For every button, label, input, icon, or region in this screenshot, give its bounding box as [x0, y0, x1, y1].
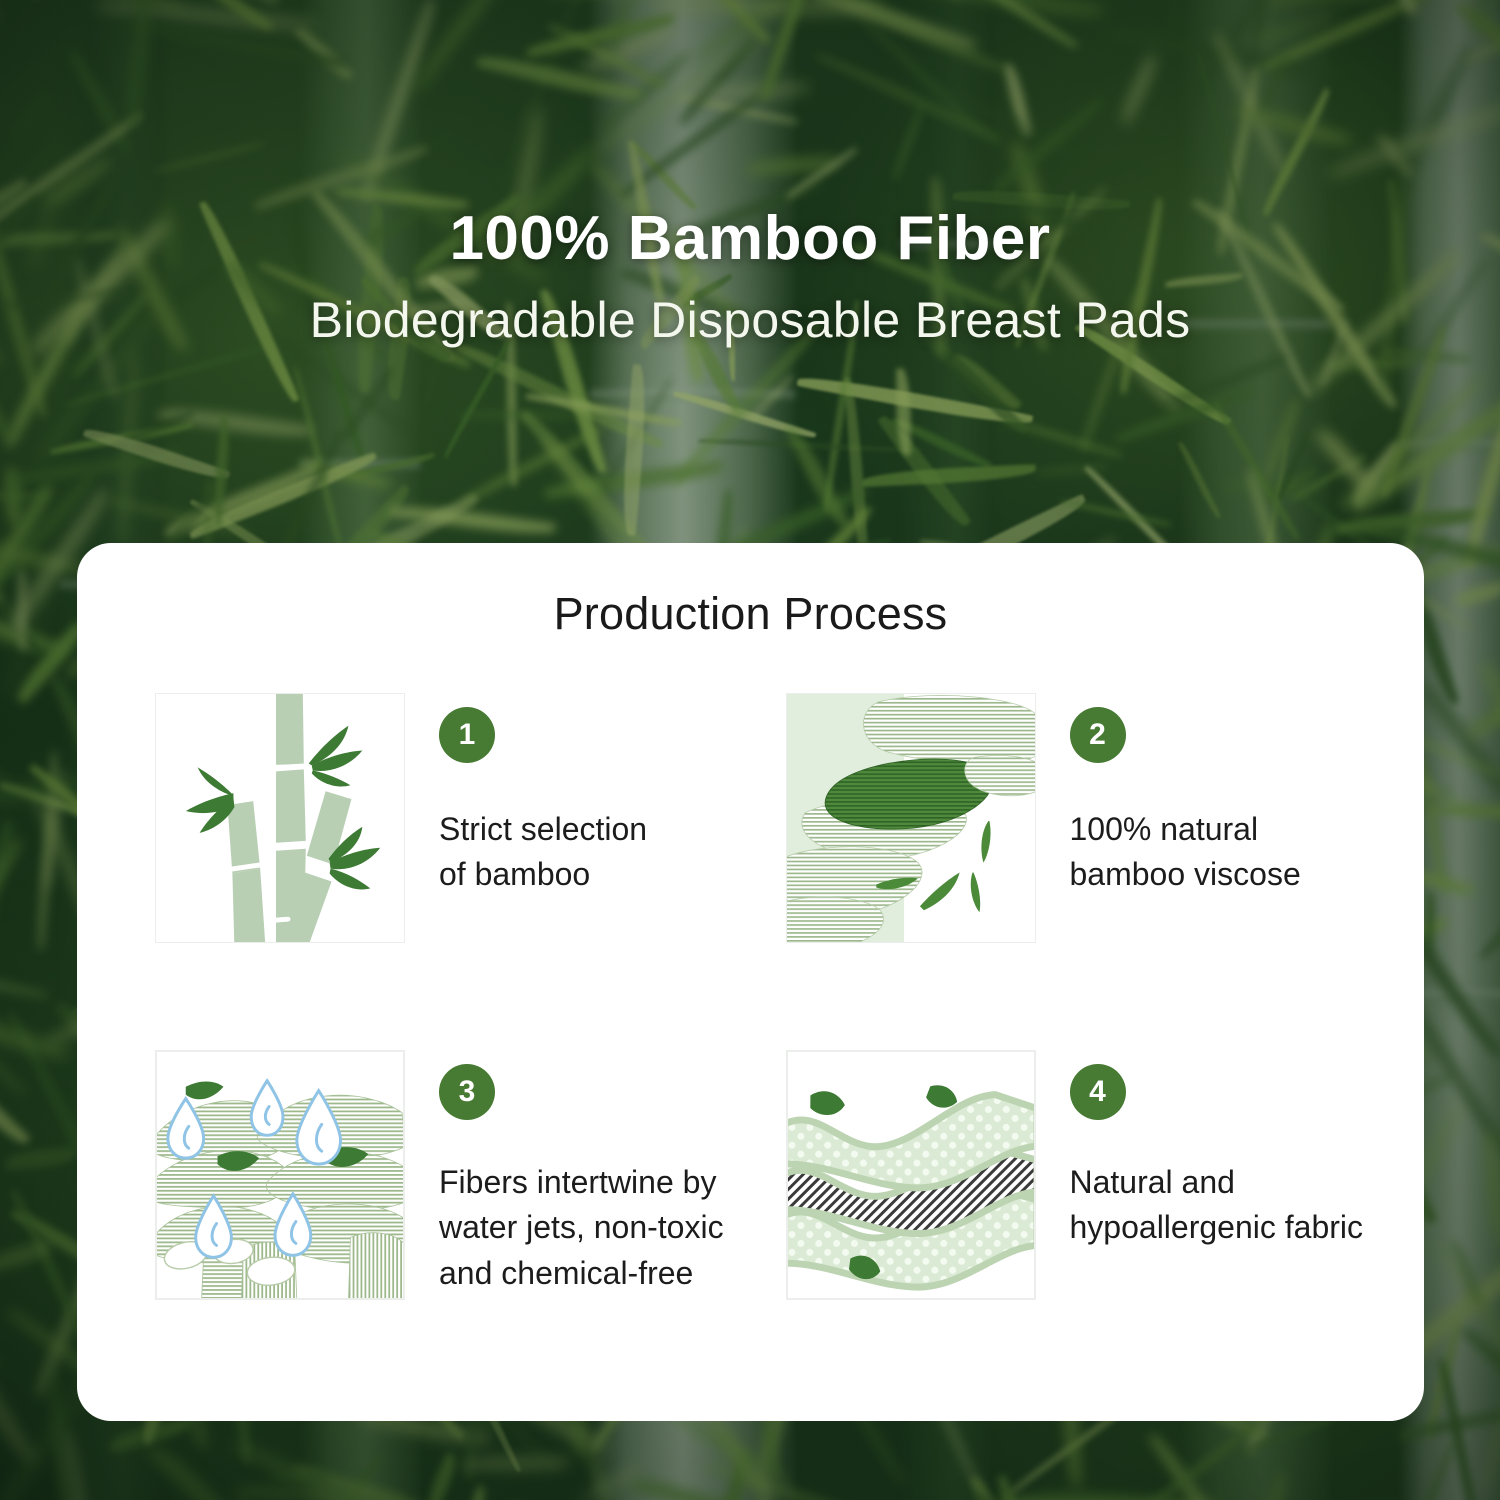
card-title: Production Process	[77, 588, 1424, 640]
process-step-1: 1 Strict selection of bamboo	[155, 693, 748, 1006]
step-2-number-badge: 2	[1070, 707, 1126, 763]
process-step-3: 3 Fibers intertwine by water jets, non-t…	[155, 1050, 748, 1363]
step-1-number-badge: 1	[439, 707, 495, 763]
production-process-card: Production Process	[77, 543, 1424, 1421]
infographic-page: 100% Bamboo Fiber Biodegradable Disposab…	[0, 0, 1500, 1500]
layered-fabric-icon	[786, 1050, 1036, 1300]
step-2-text: 100% natural bamboo viscose	[1070, 807, 1379, 898]
fiber-water-jet-icon	[155, 1050, 405, 1300]
bamboo-viscose-fiber-icon	[786, 693, 1036, 943]
subheadline: Biodegradable Disposable Breast Pads	[0, 293, 1500, 348]
step-1-text: Strict selection of bamboo	[439, 807, 748, 898]
step-3-body: 3 Fibers intertwine by water jets, non-t…	[405, 1050, 748, 1296]
step-4-body: 4 Natural and hypoallergenic fabric	[1036, 1050, 1379, 1251]
page-header: 100% Bamboo Fiber Biodegradable Disposab…	[0, 206, 1500, 348]
step-3-text: Fibers intertwine by water jets, non-tox…	[439, 1160, 748, 1296]
steps-grid: 1 Strict selection of bamboo	[155, 693, 1378, 1363]
step-4-text: Natural and hypoallergenic fabric	[1070, 1160, 1379, 1251]
process-step-4: 4 Natural and hypoallergenic fabric	[786, 1050, 1379, 1363]
step-3-number-badge: 3	[439, 1064, 495, 1120]
bamboo-stalks-icon	[155, 693, 405, 943]
headline: 100% Bamboo Fiber	[0, 206, 1500, 273]
step-1-body: 1 Strict selection of bamboo	[405, 693, 748, 898]
step-4-number-badge: 4	[1070, 1064, 1126, 1120]
process-step-2: 2 100% natural bamboo viscose	[786, 693, 1379, 1006]
step-2-body: 2 100% natural bamboo viscose	[1036, 693, 1379, 898]
